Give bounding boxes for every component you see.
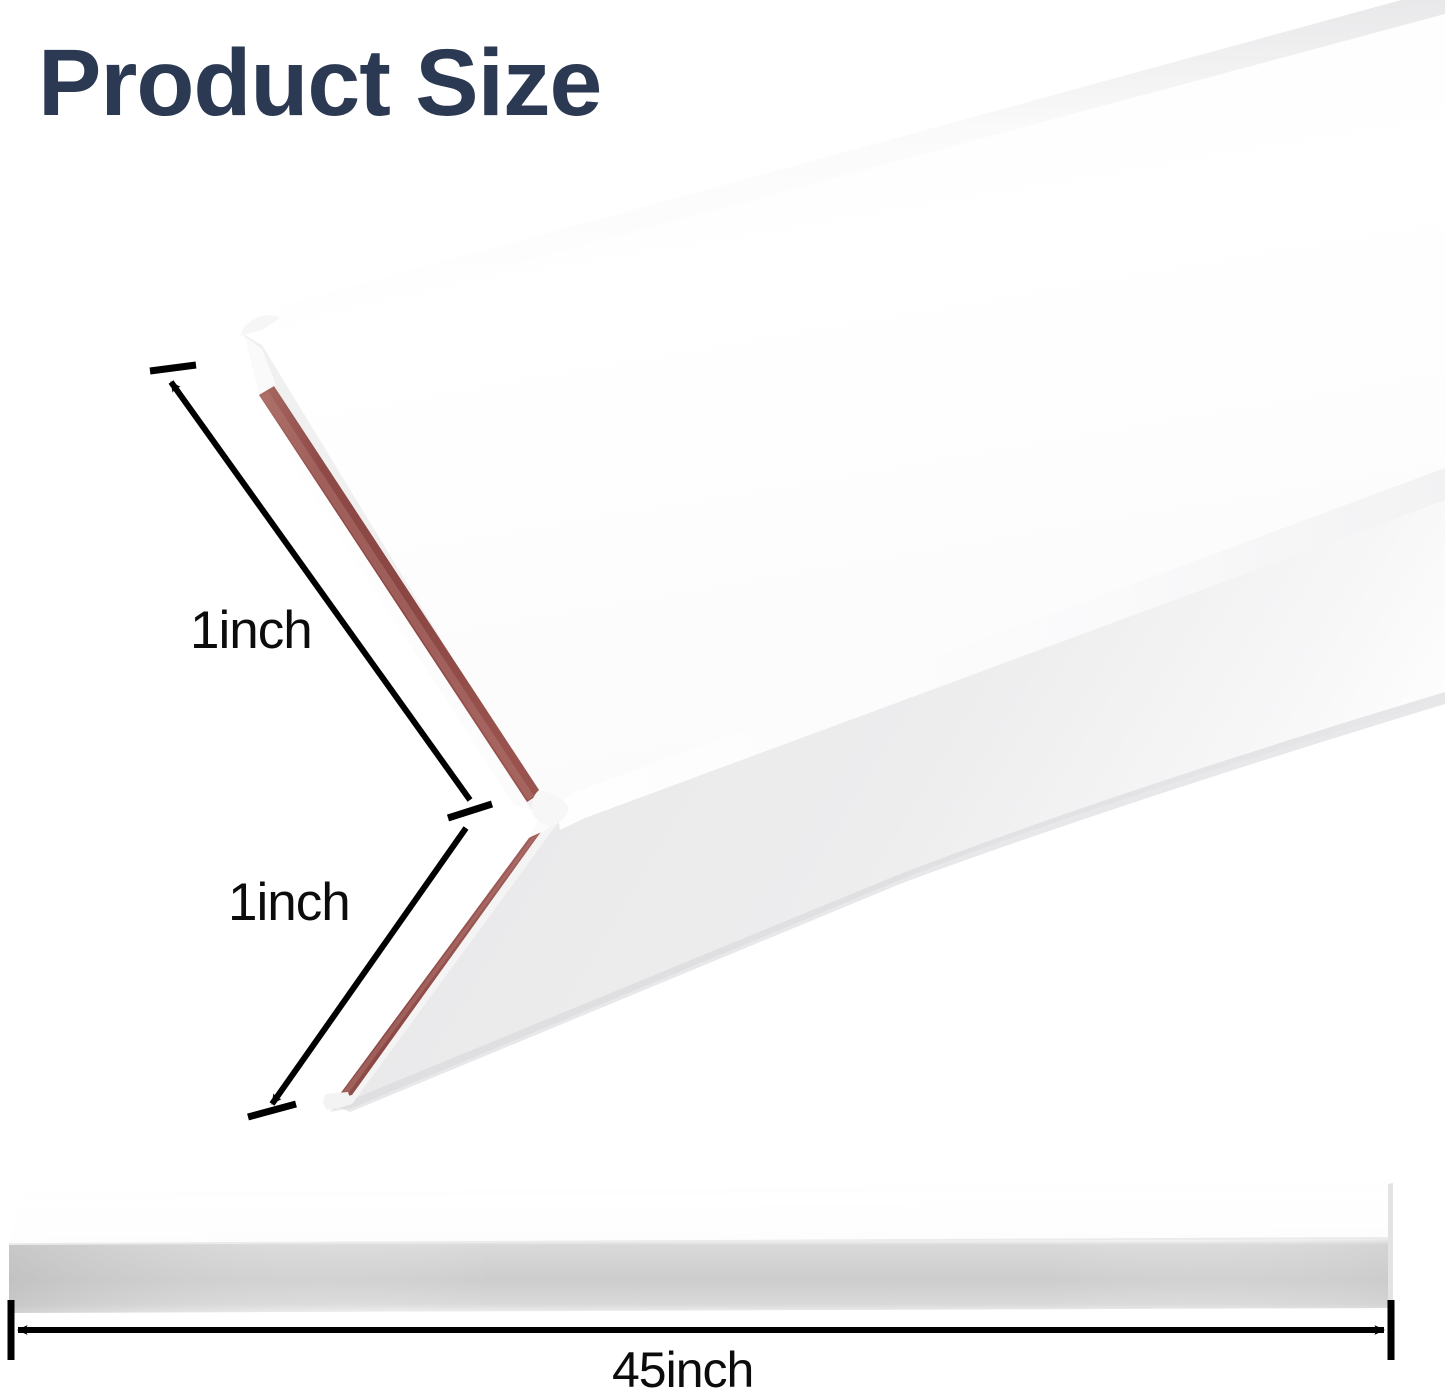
product-size-infographic: Product Size 1inch 1inch 45inch: [0, 0, 1445, 1394]
length-bar-right-cap: [1388, 1183, 1393, 1308]
corner-guard-body: [240, 0, 1445, 1112]
length-bar-front-shading: [9, 1239, 1392, 1313]
tick-mark-icon-vertex: [448, 804, 492, 818]
width-dimension-label: 1inch: [228, 872, 350, 933]
length-dimension-label: 45inch: [612, 1341, 753, 1394]
length-bar-top-face: [9, 1183, 1392, 1244]
height-dimension-label: 1inch: [190, 600, 312, 661]
tick-mark-icon-bottom: [248, 1104, 296, 1117]
tick-mark-icon-top: [150, 365, 196, 371]
product-illustration: [0, 0, 1445, 1394]
product-length-bar: [9, 1183, 1393, 1313]
page-title: Product Size: [38, 34, 601, 134]
